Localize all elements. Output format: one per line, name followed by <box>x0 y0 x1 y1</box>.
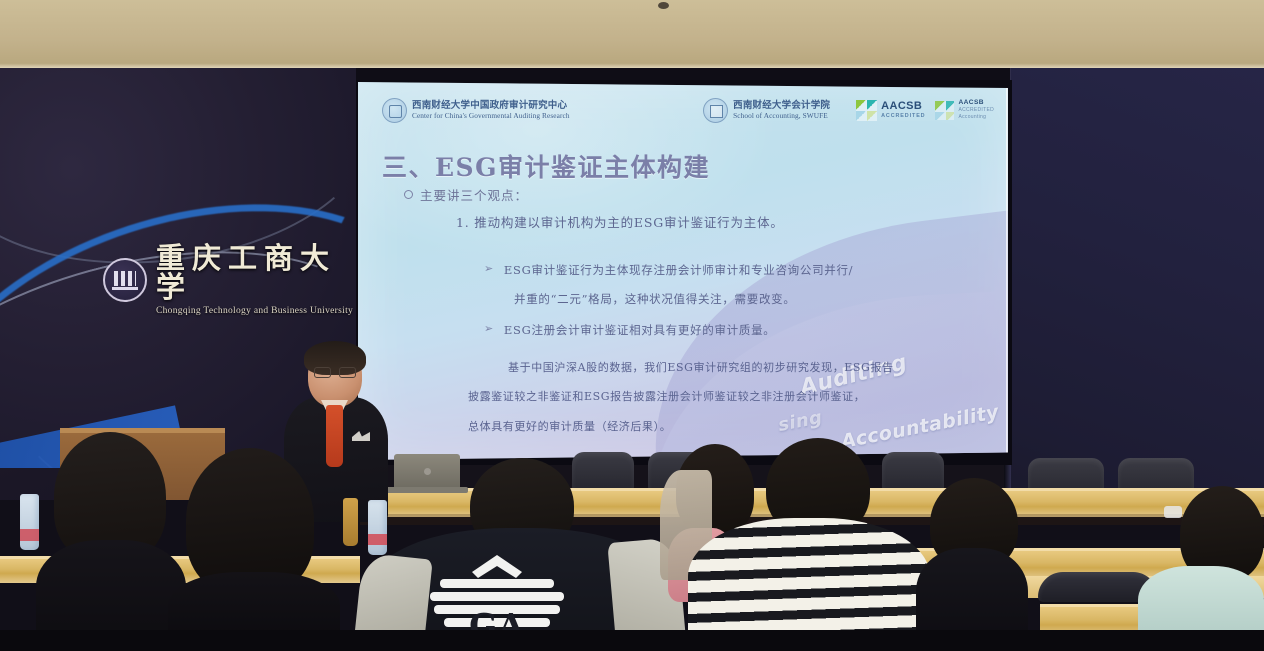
thermos-icon <box>343 498 358 546</box>
aacsb-accounting-logo-icon <box>935 101 954 120</box>
slide-bullet-1-text: 主要讲三个观点： <box>420 185 528 204</box>
university-seal-icon <box>103 258 147 302</box>
slide-subpoint-1: ➢ ESG审计鉴证行为主体现存注册会计师审计和专业咨询公司并行/ <box>484 262 853 278</box>
logo-auditing-center-en: Center for China's Governmental Auditing… <box>412 112 570 121</box>
aacsb-accounting-name: AACSB <box>958 100 994 107</box>
slide-title: 三、ESG审计鉴证主体构建 <box>382 148 710 184</box>
university-logo: 重庆工商大学 Chongqing Technology and Business… <box>103 244 356 316</box>
logo-school-accounting-en: School of Accounting, SWUFE <box>733 112 830 121</box>
ceiling <box>0 0 1264 72</box>
swufe-accounting-school-seal-icon <box>703 98 728 123</box>
chair <box>572 452 634 492</box>
projection-screen: Auditing sing Accountability 西南财经大学中国政府审… <box>358 82 1008 460</box>
water-bottle-icon-2 <box>20 494 39 550</box>
slide-bullet-1: 主要讲三个观点： <box>404 185 528 204</box>
logo-school-accounting: 西南财经大学会计学院 School of Accounting, SWUFE <box>703 98 830 123</box>
aacsb-logo-icon <box>856 100 877 121</box>
bottle-label <box>368 534 387 545</box>
glasses-icon-2 <box>1164 506 1182 518</box>
slide-subpoint-1-text: ESG审计鉴证行为主体现存注册会计师审计和专业咨询公司并行/ <box>504 262 853 278</box>
laptop-icon <box>394 454 460 488</box>
speaker-tie <box>326 405 343 467</box>
university-name-en: Chongqing Technology and Business Univer… <box>156 306 356 316</box>
logo-auditing-center: 西南财经大学中国政府审计研究中心 Center for China's Gove… <box>382 98 570 123</box>
aacsb-sub: ACCREDITED <box>881 112 925 120</box>
bullet-dot-icon <box>404 190 413 199</box>
laptop-base <box>386 487 468 493</box>
slide-header: 西南财经大学中国政府审计研究中心 Center for China's Gove… <box>382 98 994 123</box>
foreground-shadow <box>0 630 1264 651</box>
ceiling-fixture-icon <box>658 2 669 9</box>
aacsb-accreditation-badge: AACSB ACCREDITED <box>856 100 925 121</box>
glasses-icon <box>314 367 356 376</box>
water-bottle-icon <box>368 500 387 555</box>
slide-paragraph-line-1: 基于中国沪深A股的数据，我们ESG审计研究组的初步研究发现，ESG报告 <box>508 359 894 375</box>
aacsb-name: AACSB <box>881 101 925 112</box>
chair <box>882 452 944 492</box>
presentation-room-photo: 重庆工商大学 Chongqing Technology and Business… <box>0 0 1264 651</box>
slide-numbered-1: 1. 推动构建以审计机构为主的ESG审计鉴证行为主体。 <box>456 212 784 231</box>
aacsb-accounting-sub: ACCREDITED <box>958 107 994 114</box>
slide-subpoint-1-cont: 并重的“二元”格局，这种状况值得关注，需要改变。 <box>514 291 796 307</box>
aacsb-accounting-accreditation-badge: AACSB ACCREDITED Accounting <box>935 100 994 121</box>
slide-paragraph-line-2: 披露鉴证较之非鉴证和ESG报告披露注册会计师鉴证较之非注册会计师鉴证， <box>468 388 865 404</box>
slide-paragraph-line-3: 总体具有更好的审计质量（经济后果）。 <box>468 418 671 434</box>
arrow-marker-icon-2: ➢ <box>484 322 494 338</box>
slide-subpoint-2: ➢ ESG注册会计审计鉴证相对具有更好的审计质量。 <box>484 322 775 338</box>
bottle-label-2 <box>20 529 39 541</box>
aacsb-accounting-detail: Accounting <box>958 114 994 121</box>
swufe-auditing-center-seal-icon <box>382 98 407 123</box>
arrow-marker-icon: ➢ <box>484 262 494 278</box>
university-name-cn: 重庆工商大学 <box>156 244 356 302</box>
slide-subpoint-2-text: ESG注册会计审计鉴证相对具有更好的审计质量。 <box>504 322 776 338</box>
